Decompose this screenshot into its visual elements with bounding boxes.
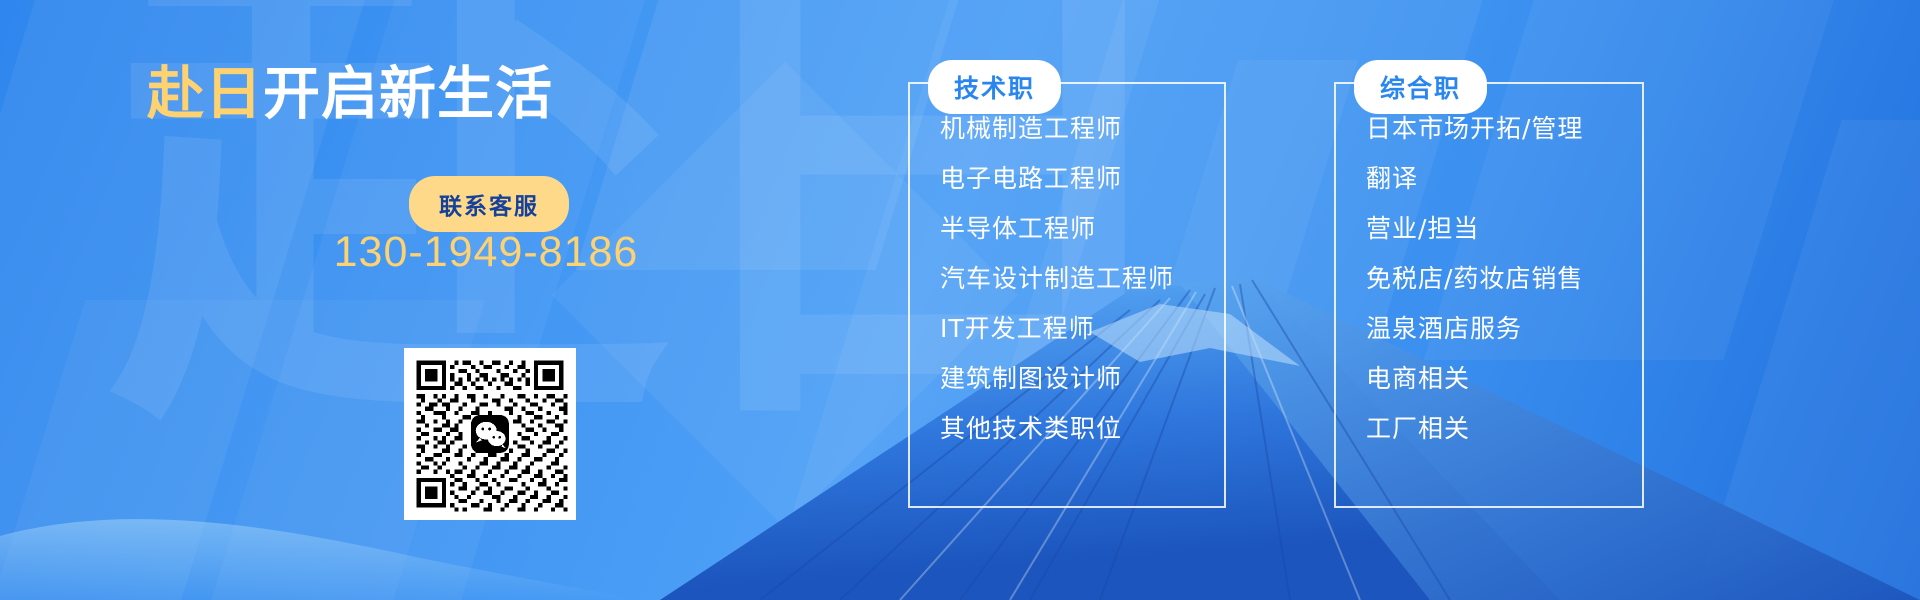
promo-banner: 赴日 [0, 0, 1920, 600]
list-item[interactable]: 电子电路工程师 [908, 166, 1226, 191]
panel-title-tech: 技术职 [928, 60, 1061, 114]
panel-title-general: 综合职 [1354, 60, 1487, 114]
list-item[interactable]: 翻译 [1334, 166, 1644, 191]
list-item[interactable]: 机械制造工程师 [908, 116, 1226, 141]
contact-support-button[interactable]: 联系客服 [409, 176, 569, 232]
bg-shape-7 [1658, 120, 1920, 600]
phone-number: 130-1949-8186 [0, 228, 972, 277]
headline-highlight: 赴日 [147, 61, 263, 127]
list-item[interactable]: 日本市场开拓/管理 [1334, 116, 1644, 141]
list-item[interactable]: IT开发工程师 [908, 316, 1226, 341]
list-item[interactable]: 电商相关 [1334, 366, 1644, 391]
left-content-column: 赴日开启新生活 联系客服 130-1949-8186 [0, 0, 700, 600]
job-category-panel-tech: 技术职 机械制造工程师 电子电路工程师 半导体工程师 汽车设计制造工程师 IT开… [908, 60, 1226, 508]
list-item[interactable]: 建筑制图设计师 [908, 366, 1226, 391]
wechat-logo-icon [471, 415, 509, 453]
headline-rest: 开启新生活 [263, 61, 553, 127]
job-category-panel-general: 综合职 日本市场开拓/管理 翻译 营业/担当 免税店/药妆店销售 温泉酒店服务 … [1334, 60, 1644, 508]
list-item[interactable]: 免税店/药妆店销售 [1334, 266, 1644, 291]
list-item[interactable]: 工厂相关 [1334, 416, 1644, 441]
list-item[interactable]: 半导体工程师 [908, 216, 1226, 241]
job-list-tech: 机械制造工程师 电子电路工程师 半导体工程师 汽车设计制造工程师 IT开发工程师… [908, 116, 1226, 466]
list-item[interactable]: 其他技术类职位 [908, 416, 1226, 441]
list-item[interactable]: 温泉酒店服务 [1334, 316, 1644, 341]
job-list-general: 日本市场开拓/管理 翻译 营业/担当 免税店/药妆店销售 温泉酒店服务 电商相关… [1334, 116, 1644, 466]
list-item[interactable]: 汽车设计制造工程师 [908, 266, 1226, 291]
qr-code-icon [404, 348, 576, 520]
page-title: 赴日开启新生活 [0, 48, 700, 130]
wechat-qr-code[interactable] [404, 348, 576, 520]
list-item[interactable]: 营业/担当 [1334, 216, 1644, 241]
